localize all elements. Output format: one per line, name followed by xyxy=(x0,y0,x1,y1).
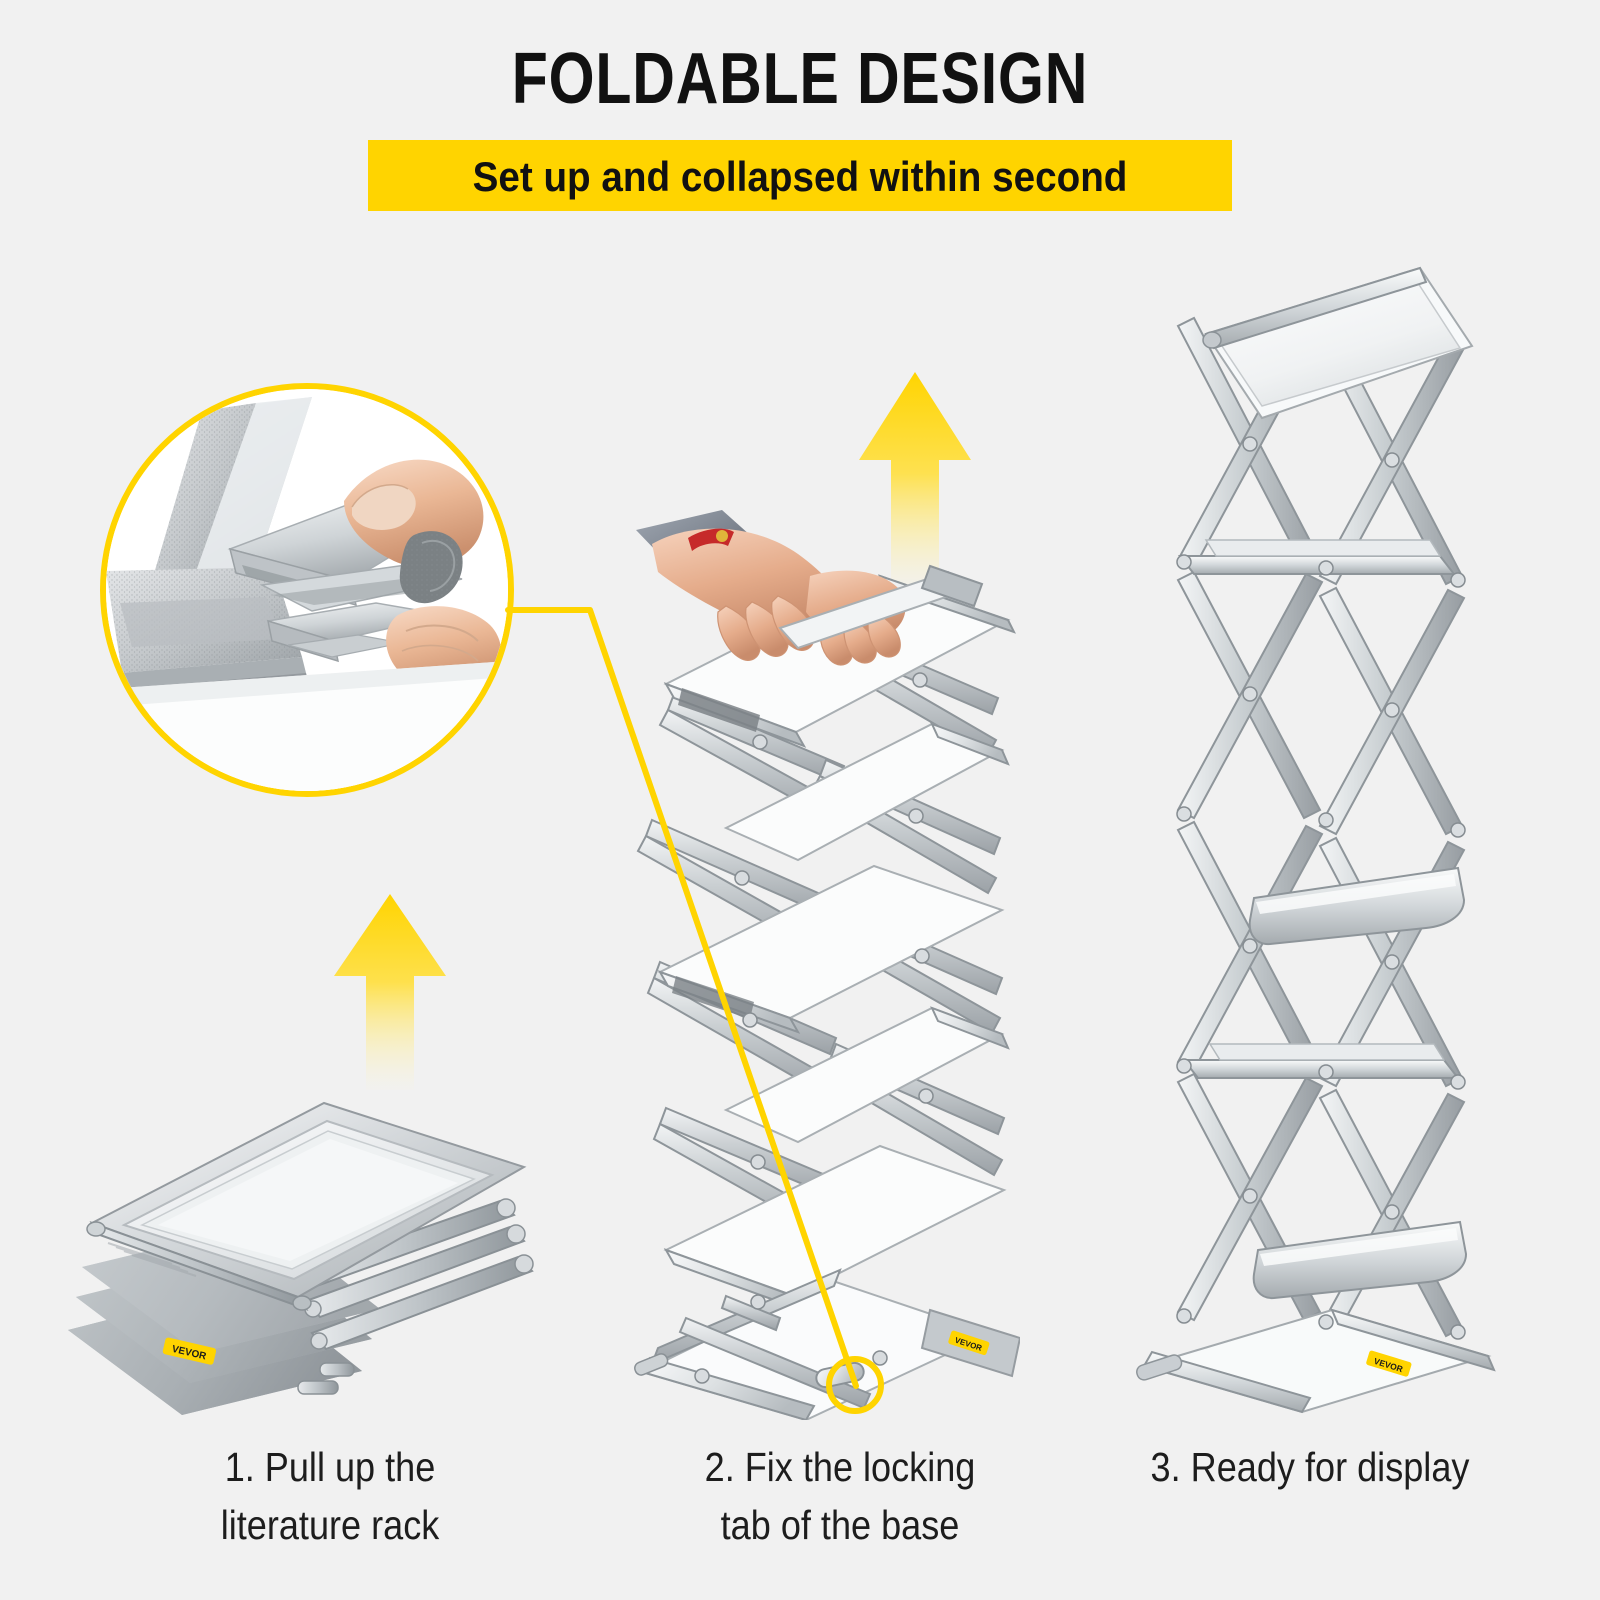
page-title: FOLDABLE DESIGN xyxy=(144,38,1456,120)
step-2-caption: 2. Fix the locking tab of the base xyxy=(602,1438,1077,1554)
photo-collapsed-rack: VEVOR xyxy=(62,1075,552,1420)
subtitle-band: Set up and collapsed within second xyxy=(368,140,1232,211)
infographic-canvas: FOLDABLE DESIGN Set up and collapsed wit… xyxy=(0,0,1600,1600)
subtitle-text: Set up and collapsed within second xyxy=(403,140,1198,211)
photo-erected-rack: VEVOR xyxy=(1120,250,1510,1415)
locking-tab-target-ring xyxy=(826,1356,884,1414)
step-3-caption: 3. Ready for display xyxy=(1072,1438,1547,1496)
up-arrow-icon-step1 xyxy=(328,890,452,1090)
step-1-caption: 1. Pull up the literature rack xyxy=(92,1438,567,1554)
photo-half-expanded-rack: VEVOR xyxy=(630,510,1020,1420)
locking-tab-callout xyxy=(100,383,514,797)
